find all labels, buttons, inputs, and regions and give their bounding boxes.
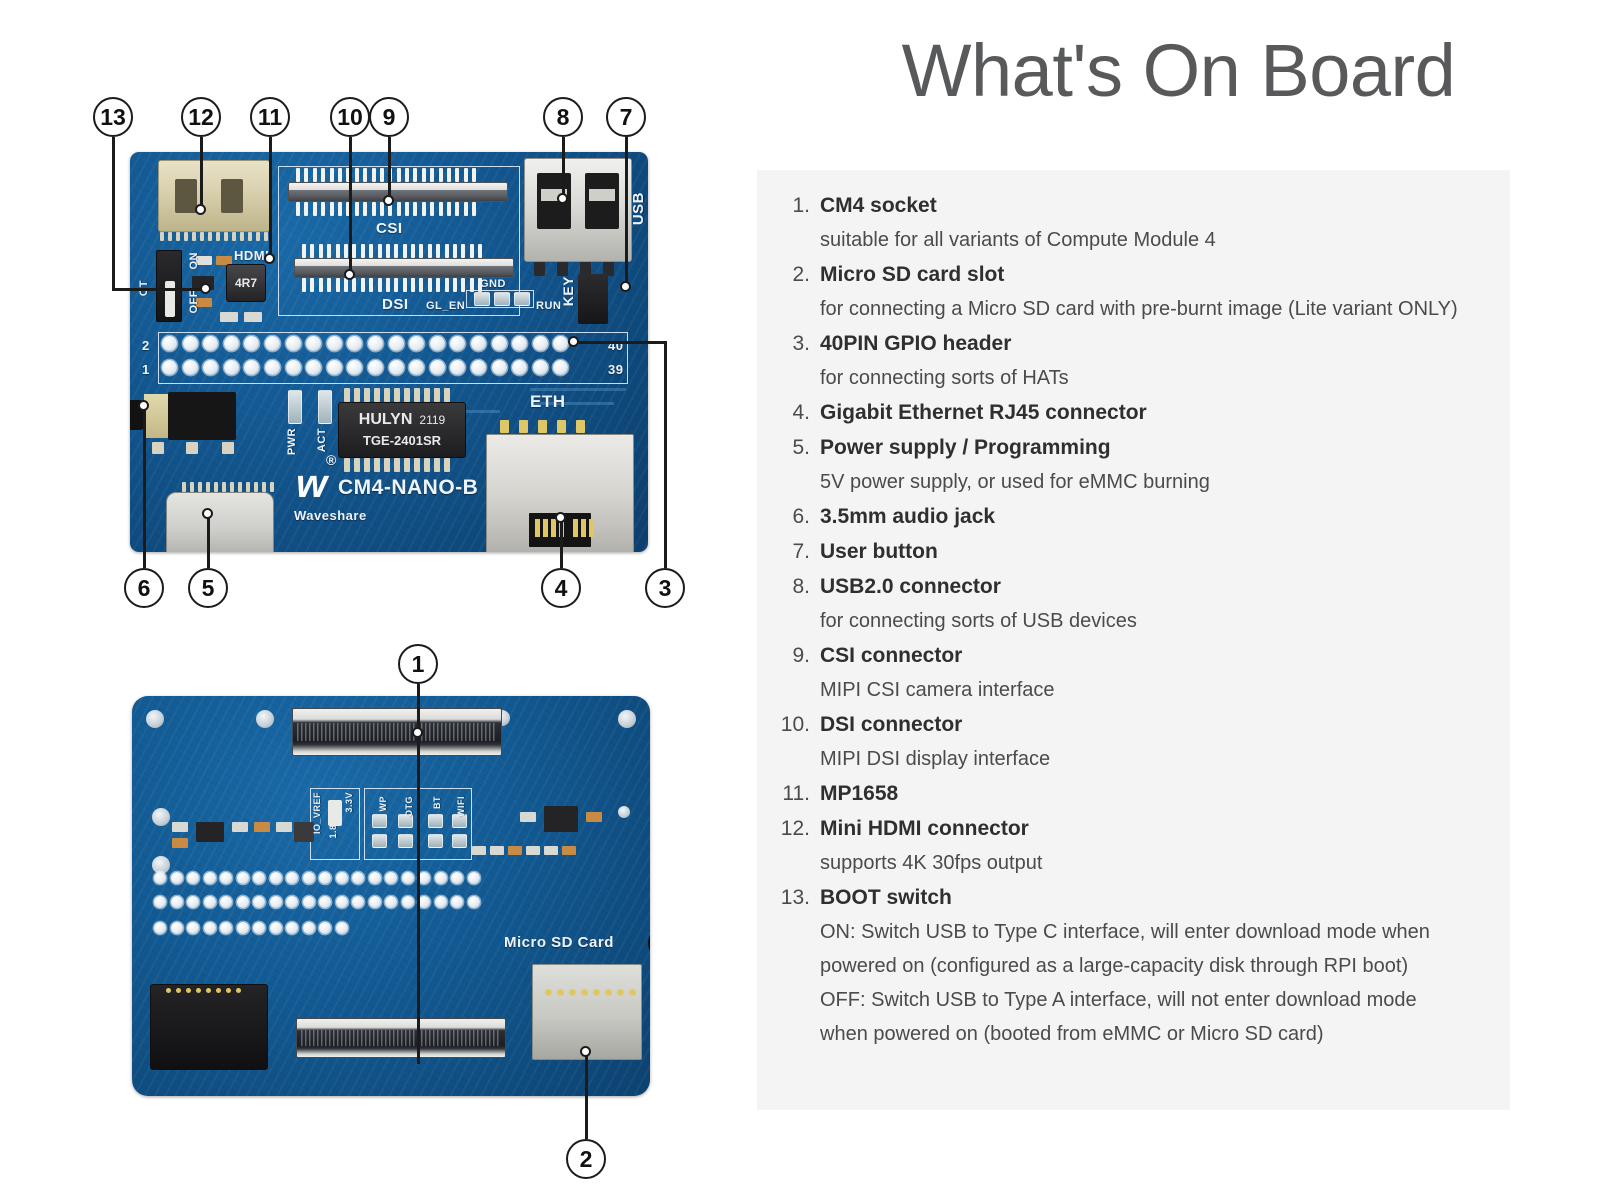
callout-11: 11 (250, 97, 290, 137)
usb-c-connector (166, 492, 274, 552)
silk-gl-en-label: GL_EN (426, 300, 465, 312)
dsi-bottom-comb (302, 278, 502, 292)
jumper-pad (372, 834, 387, 848)
board-illustrations: HDMI ON OFF OT 4R7 (0, 0, 757, 1200)
callout-13-leader-h (112, 288, 205, 291)
smd-resistor (276, 822, 292, 832)
back-pad-row-1 (154, 872, 484, 884)
smd-resistor (586, 812, 602, 822)
jumper-pad (372, 814, 387, 828)
mounting-hole (146, 710, 164, 728)
rj45-pins (500, 420, 589, 433)
callout-3-anchor (568, 336, 579, 347)
audio-jack-housing (168, 392, 236, 440)
inductor-4r7: 4R7 (226, 264, 266, 302)
silk-pin39-label: 39 (608, 362, 623, 377)
user-button (578, 274, 608, 324)
silk-inductor-label: 4R7 (235, 276, 257, 291)
silk-registered-mark: ® (326, 452, 337, 468)
smd-resistor (244, 312, 262, 322)
callout-11-anchor (264, 253, 275, 264)
ethernet-transformer-chip: HULYN 2119 TGE-2401SR (338, 402, 466, 458)
spec-item-description: MIPI DSI display interface (820, 742, 1510, 776)
callout-10: 10 (330, 97, 370, 137)
callout-4-leader (560, 516, 563, 568)
callout-6-leader (143, 406, 146, 568)
callout-3: 3 (645, 568, 685, 608)
silk-usb-label: USB (630, 192, 647, 225)
edge-connector-pins (166, 988, 246, 993)
callout-8-anchor (557, 193, 568, 204)
spec-item-body: Mini HDMI connectorsupports 4K 30fps out… (819, 811, 1510, 880)
spec-item-title: Micro SD card slot (820, 257, 1510, 292)
mini-hdmi-connector (158, 160, 270, 232)
spec-item-description: for connecting sorts of USB devices (820, 604, 1510, 638)
cm4-socket-connector (292, 708, 502, 756)
pcb-trace (530, 388, 626, 391)
waveshare-logo-mark: w (296, 464, 327, 504)
callout-7-anchor (620, 281, 631, 292)
silk-3v3-label: 3.3V (344, 792, 354, 813)
spec-item-description: suitable for all variants of Compute Mod… (820, 223, 1510, 257)
silk-dsi-label: DSI (382, 296, 409, 313)
smd-resistor (490, 846, 504, 855)
spec-item: 10.DSI connectorMIPI DSI display interfa… (757, 707, 1510, 776)
spec-item: 12.Mini HDMI connectorsupports 4K 30fps … (757, 811, 1510, 880)
callout-4: 4 (541, 568, 581, 608)
spec-item: 9.CSI connectorMIPI CSI camera interface (757, 638, 1510, 707)
spec-item: 1.CM4 socketsuitable for all variants of… (757, 188, 1510, 257)
spec-item: 4.Gigabit Ethernet RJ45 connector (757, 395, 1510, 430)
smd-resistor (520, 812, 536, 822)
callout-9: 9 (369, 97, 409, 137)
spec-item-number: 7. (777, 534, 819, 569)
smd-pad (186, 442, 198, 454)
spec-item-body: 40PIN GPIO headerfor connecting sorts of… (819, 326, 1510, 395)
smd-resistor (220, 312, 238, 322)
silk-io-vref-label: IO_VREF (312, 792, 322, 834)
callout-7-leader (625, 137, 628, 285)
callout-2: 2 (566, 1139, 606, 1179)
callout-1: 1 (398, 644, 438, 684)
boot-switch (156, 250, 182, 322)
callout-13-anchor (200, 283, 211, 294)
callout-10-anchor (344, 269, 355, 280)
callout-8-leader (562, 137, 565, 197)
edge-connector-black (150, 984, 268, 1070)
callout-9-leader (388, 137, 391, 199)
callout-5-leader (207, 512, 210, 568)
act-led (318, 390, 332, 424)
silk-key-label: KEY (560, 276, 576, 306)
smd-ic (544, 806, 578, 832)
callout-3-leader-v (664, 341, 667, 568)
spec-item-number: 8. (777, 569, 819, 604)
spec-item-number: 11. (777, 776, 819, 811)
callout-12-leader (200, 137, 203, 208)
silk-brand-label: Waveshare (294, 508, 367, 523)
spec-item: 5.Power supply / Programming5V power sup… (757, 430, 1510, 499)
silk-on-label: ON (188, 252, 200, 270)
callout-5: 5 (188, 568, 228, 608)
gpio-header-row-even (162, 336, 574, 351)
callout-6: 6 (124, 568, 164, 608)
silk-pin2-label: 2 (142, 338, 150, 353)
spec-item-number: 12. (777, 811, 819, 846)
smd-resistor (172, 838, 188, 848)
chip-partnumber: TGE-2401SR (363, 433, 441, 449)
silk-off-label: OFF (188, 290, 200, 314)
spec-item-title: CM4 socket (820, 188, 1510, 223)
jumper-pad (428, 834, 443, 848)
jumper-shunt (328, 800, 342, 826)
silk-wp-label: WP (378, 796, 388, 812)
silk-run-label: RUN (536, 300, 561, 312)
spec-item-description: 5V power supply, or used for eMMC burnin… (820, 465, 1510, 499)
callout-13: 13 (93, 97, 133, 137)
spec-item-body: CSI connectorMIPI CSI camera interface (819, 638, 1510, 707)
spec-item-number: 4. (777, 395, 819, 430)
usb-c-pads (182, 482, 278, 492)
mounting-hole (618, 806, 630, 818)
spec-item-description: OFF: Switch USB to Type A interface, wil… (820, 983, 1510, 1017)
spec-item-description: for connecting sorts of HATs (820, 361, 1510, 395)
silk-bt-label: BT (432, 796, 442, 809)
callout-5-anchor (202, 508, 213, 519)
board-front-pcb: HDMI ON OFF OT 4R7 (130, 152, 648, 552)
spec-item-title: Mini HDMI connector (820, 811, 1510, 846)
callout-3-leader-h (573, 341, 664, 344)
transformer-legs-top (344, 388, 454, 402)
usb-a-connector (524, 158, 632, 262)
callout-8: 8 (543, 97, 583, 137)
spec-item: 13.BOOT switchON: Switch USB to Type C i… (757, 880, 1510, 1051)
smd-resistor (472, 846, 486, 855)
transformer-legs-bottom (344, 458, 454, 472)
spec-item: 8.USB2.0 connectorfor connecting sorts o… (757, 569, 1510, 638)
smd-resistor (562, 846, 576, 855)
callout-12: 12 (181, 97, 221, 137)
chip-datecode: 2119 (419, 413, 445, 428)
spec-item-number: 5. (777, 430, 819, 465)
silk-wifi-label: WIFI (456, 796, 466, 817)
callout-12-anchor (195, 204, 206, 215)
chip-brand: HULYN (359, 410, 413, 430)
spec-item: 6.3.5mm audio jack (757, 499, 1510, 534)
spec-item-number: 1. (777, 188, 819, 223)
spec-item-body: Power supply / Programming5V power suppl… (819, 430, 1510, 499)
spec-item-title: CSI connector (820, 638, 1510, 673)
spec-item-body: Gigabit Ethernet RJ45 connector (819, 395, 1510, 430)
cm4-socket-connector-lower (296, 1018, 506, 1058)
testpoint-pad (494, 292, 510, 306)
spec-item-title: Power supply / Programming (820, 430, 1510, 465)
smd-resistor (526, 846, 540, 855)
spec-item-body: Micro SD card slotfor connecting a Micro… (819, 257, 1510, 326)
spec-item-title: DSI connector (820, 707, 1510, 742)
dsi-top-comb (302, 244, 502, 258)
spec-item-number: 13. (777, 880, 819, 915)
silk-pwr-label: PWR (286, 428, 298, 455)
spec-panel: 1.CM4 socketsuitable for all variants of… (757, 170, 1510, 1110)
callout-11-leader (269, 137, 272, 257)
spec-item-description: for connecting a Micro SD card with pre-… (820, 292, 1510, 326)
spec-item-body: BOOT switchON: Switch USB to Type C inte… (819, 880, 1510, 1051)
csi-connector (288, 182, 508, 202)
smd-resistor (172, 822, 188, 832)
callout-2-anchor (580, 1046, 591, 1057)
silk-eth-label: ETH (530, 392, 566, 412)
jumper-pad (452, 834, 467, 848)
mounting-hole (618, 710, 636, 728)
callout-10-leader (349, 137, 352, 273)
spec-item-body: 3.5mm audio jack (819, 499, 1510, 534)
jumper-pad (428, 814, 443, 828)
silk-micro-sd-label: Micro SD Card (504, 934, 614, 951)
spec-item: 3.40PIN GPIO headerfor connecting sorts … (757, 326, 1510, 395)
spec-item-title: BOOT switch (820, 880, 1510, 915)
spec-item-title: User button (820, 534, 1510, 569)
page-title: What's On Board (757, 28, 1600, 113)
silk-model-label: CM4-NANO-B (338, 476, 478, 500)
callout-13-leader (112, 137, 115, 289)
smd-resistor (508, 846, 522, 855)
callout-1-leader (417, 684, 420, 1064)
audio-jack-body (144, 394, 168, 438)
callout-1-anchor (412, 727, 423, 738)
spec-item-body: DSI connectorMIPI DSI display interface (819, 707, 1510, 776)
callout-9-anchor (383, 195, 394, 206)
back-pad-row-3 (154, 922, 352, 934)
callout-4-anchor (555, 512, 566, 523)
dsi-connector (294, 258, 514, 278)
spec-item-title: USB2.0 connector (820, 569, 1510, 604)
spec-item-description: when powered on (booted from eMMC or Mic… (820, 1017, 1510, 1051)
gpio-header-row-odd (162, 360, 574, 375)
smd-resistor (544, 846, 558, 855)
spec-item-title: 3.5mm audio jack (820, 499, 1510, 534)
spec-item: 7.User button (757, 534, 1510, 569)
callout-7: 7 (606, 97, 646, 137)
smd-ic (196, 822, 224, 842)
spec-item-body: USB2.0 connectorfor connecting sorts of … (819, 569, 1510, 638)
spec-item-title: 40PIN GPIO header (820, 326, 1510, 361)
spec-item-body: MP1658 (819, 776, 1510, 811)
silk-pin1-label: 1 (142, 362, 150, 377)
spec-item-description: powered on (configured as a large-capaci… (820, 949, 1510, 983)
hdmi-pins (160, 232, 272, 241)
silk-csi-label: CSI (376, 220, 403, 237)
audio-jack-back (648, 926, 650, 960)
mounting-hole (256, 710, 274, 728)
silk-act-label: ACT (316, 428, 328, 452)
spec-item-description: MIPI CSI camera interface (820, 673, 1510, 707)
smd-ic-small (294, 822, 314, 842)
smd-pad (152, 442, 164, 454)
spec-item-body: CM4 socketsuitable for all variants of C… (819, 188, 1510, 257)
callout-6-anchor (138, 400, 149, 411)
spec-list: 1.CM4 socketsuitable for all variants of… (757, 170, 1510, 1051)
silk-otg-label: OTG (404, 796, 414, 817)
board-back-pcb: IO_VREF 1.8V 3.3V WP OTG BT WIFI (132, 696, 650, 1096)
page-root: HDMI ON OFF OT 4R7 (0, 0, 1600, 1200)
spec-item: 2.Micro SD card slotfor connecting a Mic… (757, 257, 1510, 326)
testpoint-pad (514, 292, 530, 306)
mounting-hole (152, 808, 170, 826)
spec-item-description: supports 4K 30fps output (820, 846, 1510, 880)
back-pad-row-2 (154, 896, 484, 908)
csi-top-comb (296, 168, 496, 182)
spec-item-number: 10. (777, 707, 819, 742)
pwr-led (288, 390, 302, 424)
testpoint-pad (474, 292, 490, 306)
jumper-pad (398, 834, 413, 848)
smd-resistor (232, 822, 248, 832)
spec-item-body: User button (819, 534, 1510, 569)
spec-column: What's On Board 1.CM4 socketsuitable for… (757, 0, 1600, 1200)
spec-item-description: ON: Switch USB to Type C interface, will… (820, 915, 1510, 949)
spec-item-title: MP1658 (820, 776, 1510, 811)
callout-2-leader (585, 1050, 588, 1139)
smd-pad (222, 442, 234, 454)
spec-item-title: Gigabit Ethernet RJ45 connector (820, 395, 1510, 430)
csi-bottom-comb (296, 202, 496, 216)
spec-item-number: 9. (777, 638, 819, 673)
spec-item-number: 6. (777, 499, 819, 534)
spec-item: 11.MP1658 (757, 776, 1510, 811)
smd-resistor (254, 822, 270, 832)
spec-item-number: 3. (777, 326, 819, 361)
spec-item-number: 2. (777, 257, 819, 292)
